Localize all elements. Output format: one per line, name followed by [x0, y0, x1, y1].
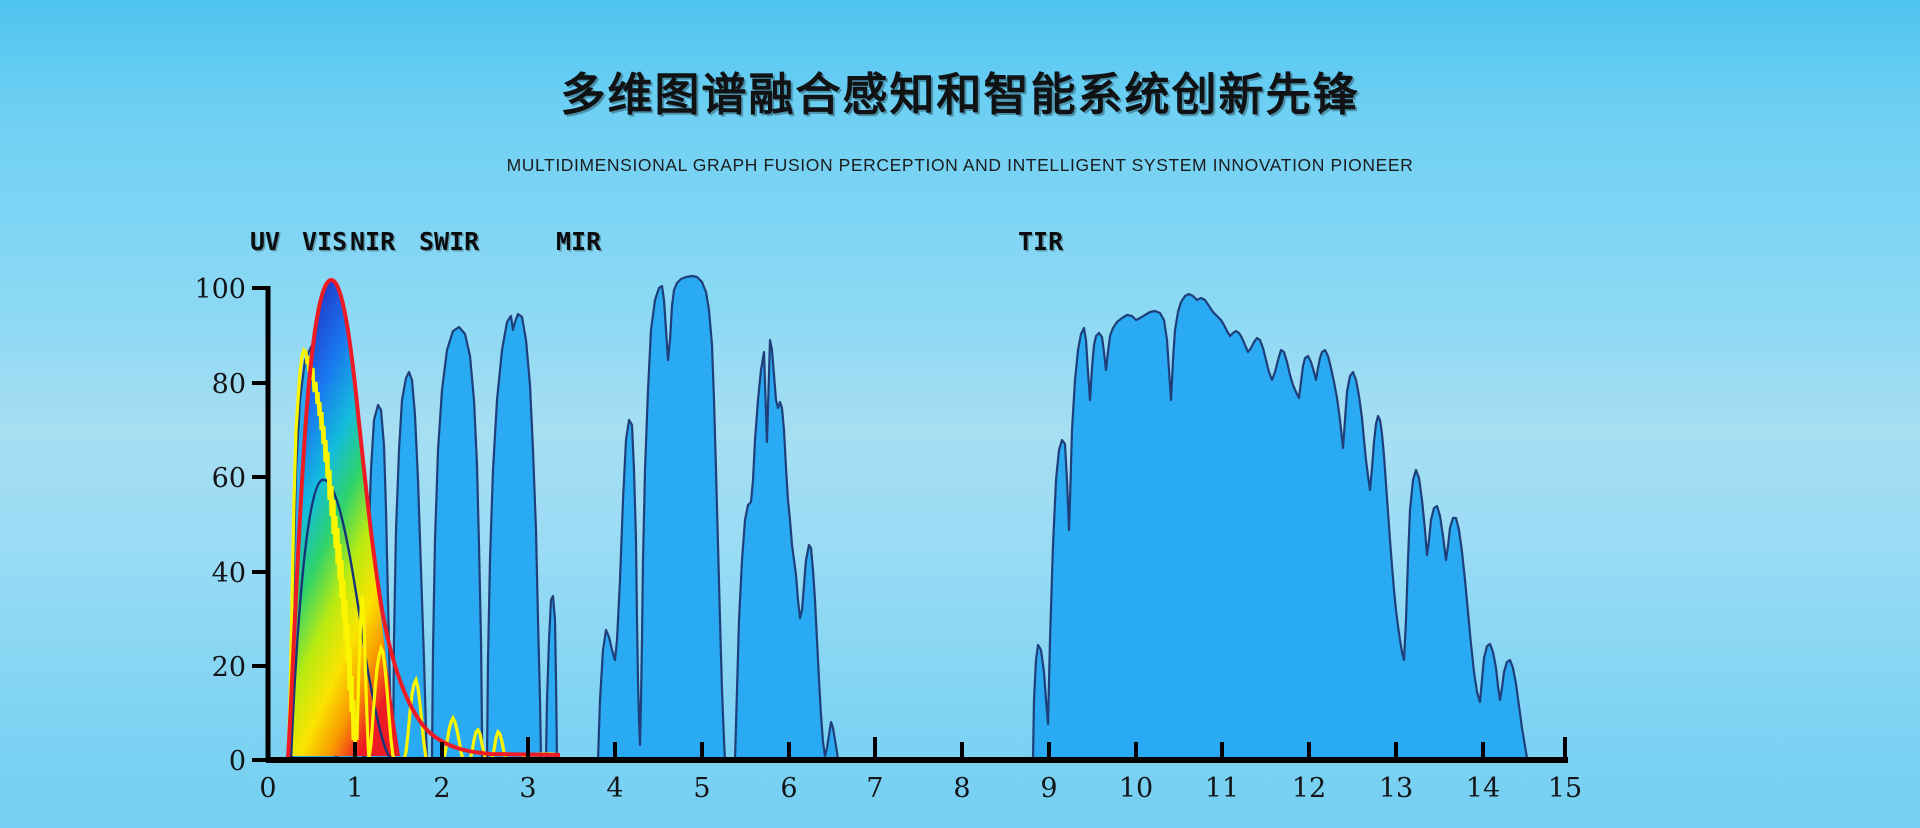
solar-peak-rainbow-fill [285, 270, 410, 766]
x-tick-label: 12 [1292, 773, 1326, 804]
atmosphere-windows [292, 276, 1528, 760]
solar-peak-group [285, 270, 410, 766]
y-tick-label: 60 [212, 463, 246, 494]
x-tick-label: 11 [1205, 773, 1239, 804]
y-tick-label: 100 [194, 274, 246, 305]
x-tick-label: 3 [519, 773, 536, 804]
x-tick-label: 2 [433, 773, 450, 804]
y-tick-label: 40 [212, 558, 246, 589]
x-tick-label: 6 [780, 773, 797, 804]
y-tick-label: 20 [212, 652, 246, 683]
x-tick-label: 4 [606, 773, 623, 804]
window-swir-1 [432, 327, 482, 760]
window-tir [1033, 294, 1528, 760]
window-swir-2 [487, 314, 541, 760]
x-tick-label: 15 [1548, 773, 1582, 804]
x-tick-label: 7 [866, 773, 883, 804]
x-tick-label: 1 [346, 773, 363, 804]
x-tick-label: 8 [953, 773, 970, 804]
spectrum-chart: 100 80 60 40 20 0 0 1 2 3 4 5 6 7 8 9 10… [0, 0, 1920, 828]
window-mir-secondary [735, 340, 838, 760]
x-tick-label: 9 [1040, 773, 1057, 804]
y-tick-label: 80 [212, 369, 246, 400]
x-tick-label: 5 [693, 773, 710, 804]
y-tick-labels: 100 80 60 40 20 0 [194, 274, 246, 777]
window-swir-sliver-a [546, 596, 557, 760]
x-tick-label: 0 [259, 773, 276, 804]
x-tick-labels: 0 1 2 3 4 5 6 7 8 9 10 11 12 13 14 15 [259, 773, 1582, 804]
y-tick-label: 0 [229, 746, 246, 777]
x-tick-label: 10 [1119, 773, 1153, 804]
poster-canvas: 多维图谱融合感知和智能系统创新先锋 MULTIDIMENSIONAL GRAPH… [0, 0, 1920, 828]
x-tick-label: 14 [1466, 773, 1500, 804]
x-tick-label: 13 [1379, 773, 1413, 804]
window-mir-main [598, 276, 725, 760]
